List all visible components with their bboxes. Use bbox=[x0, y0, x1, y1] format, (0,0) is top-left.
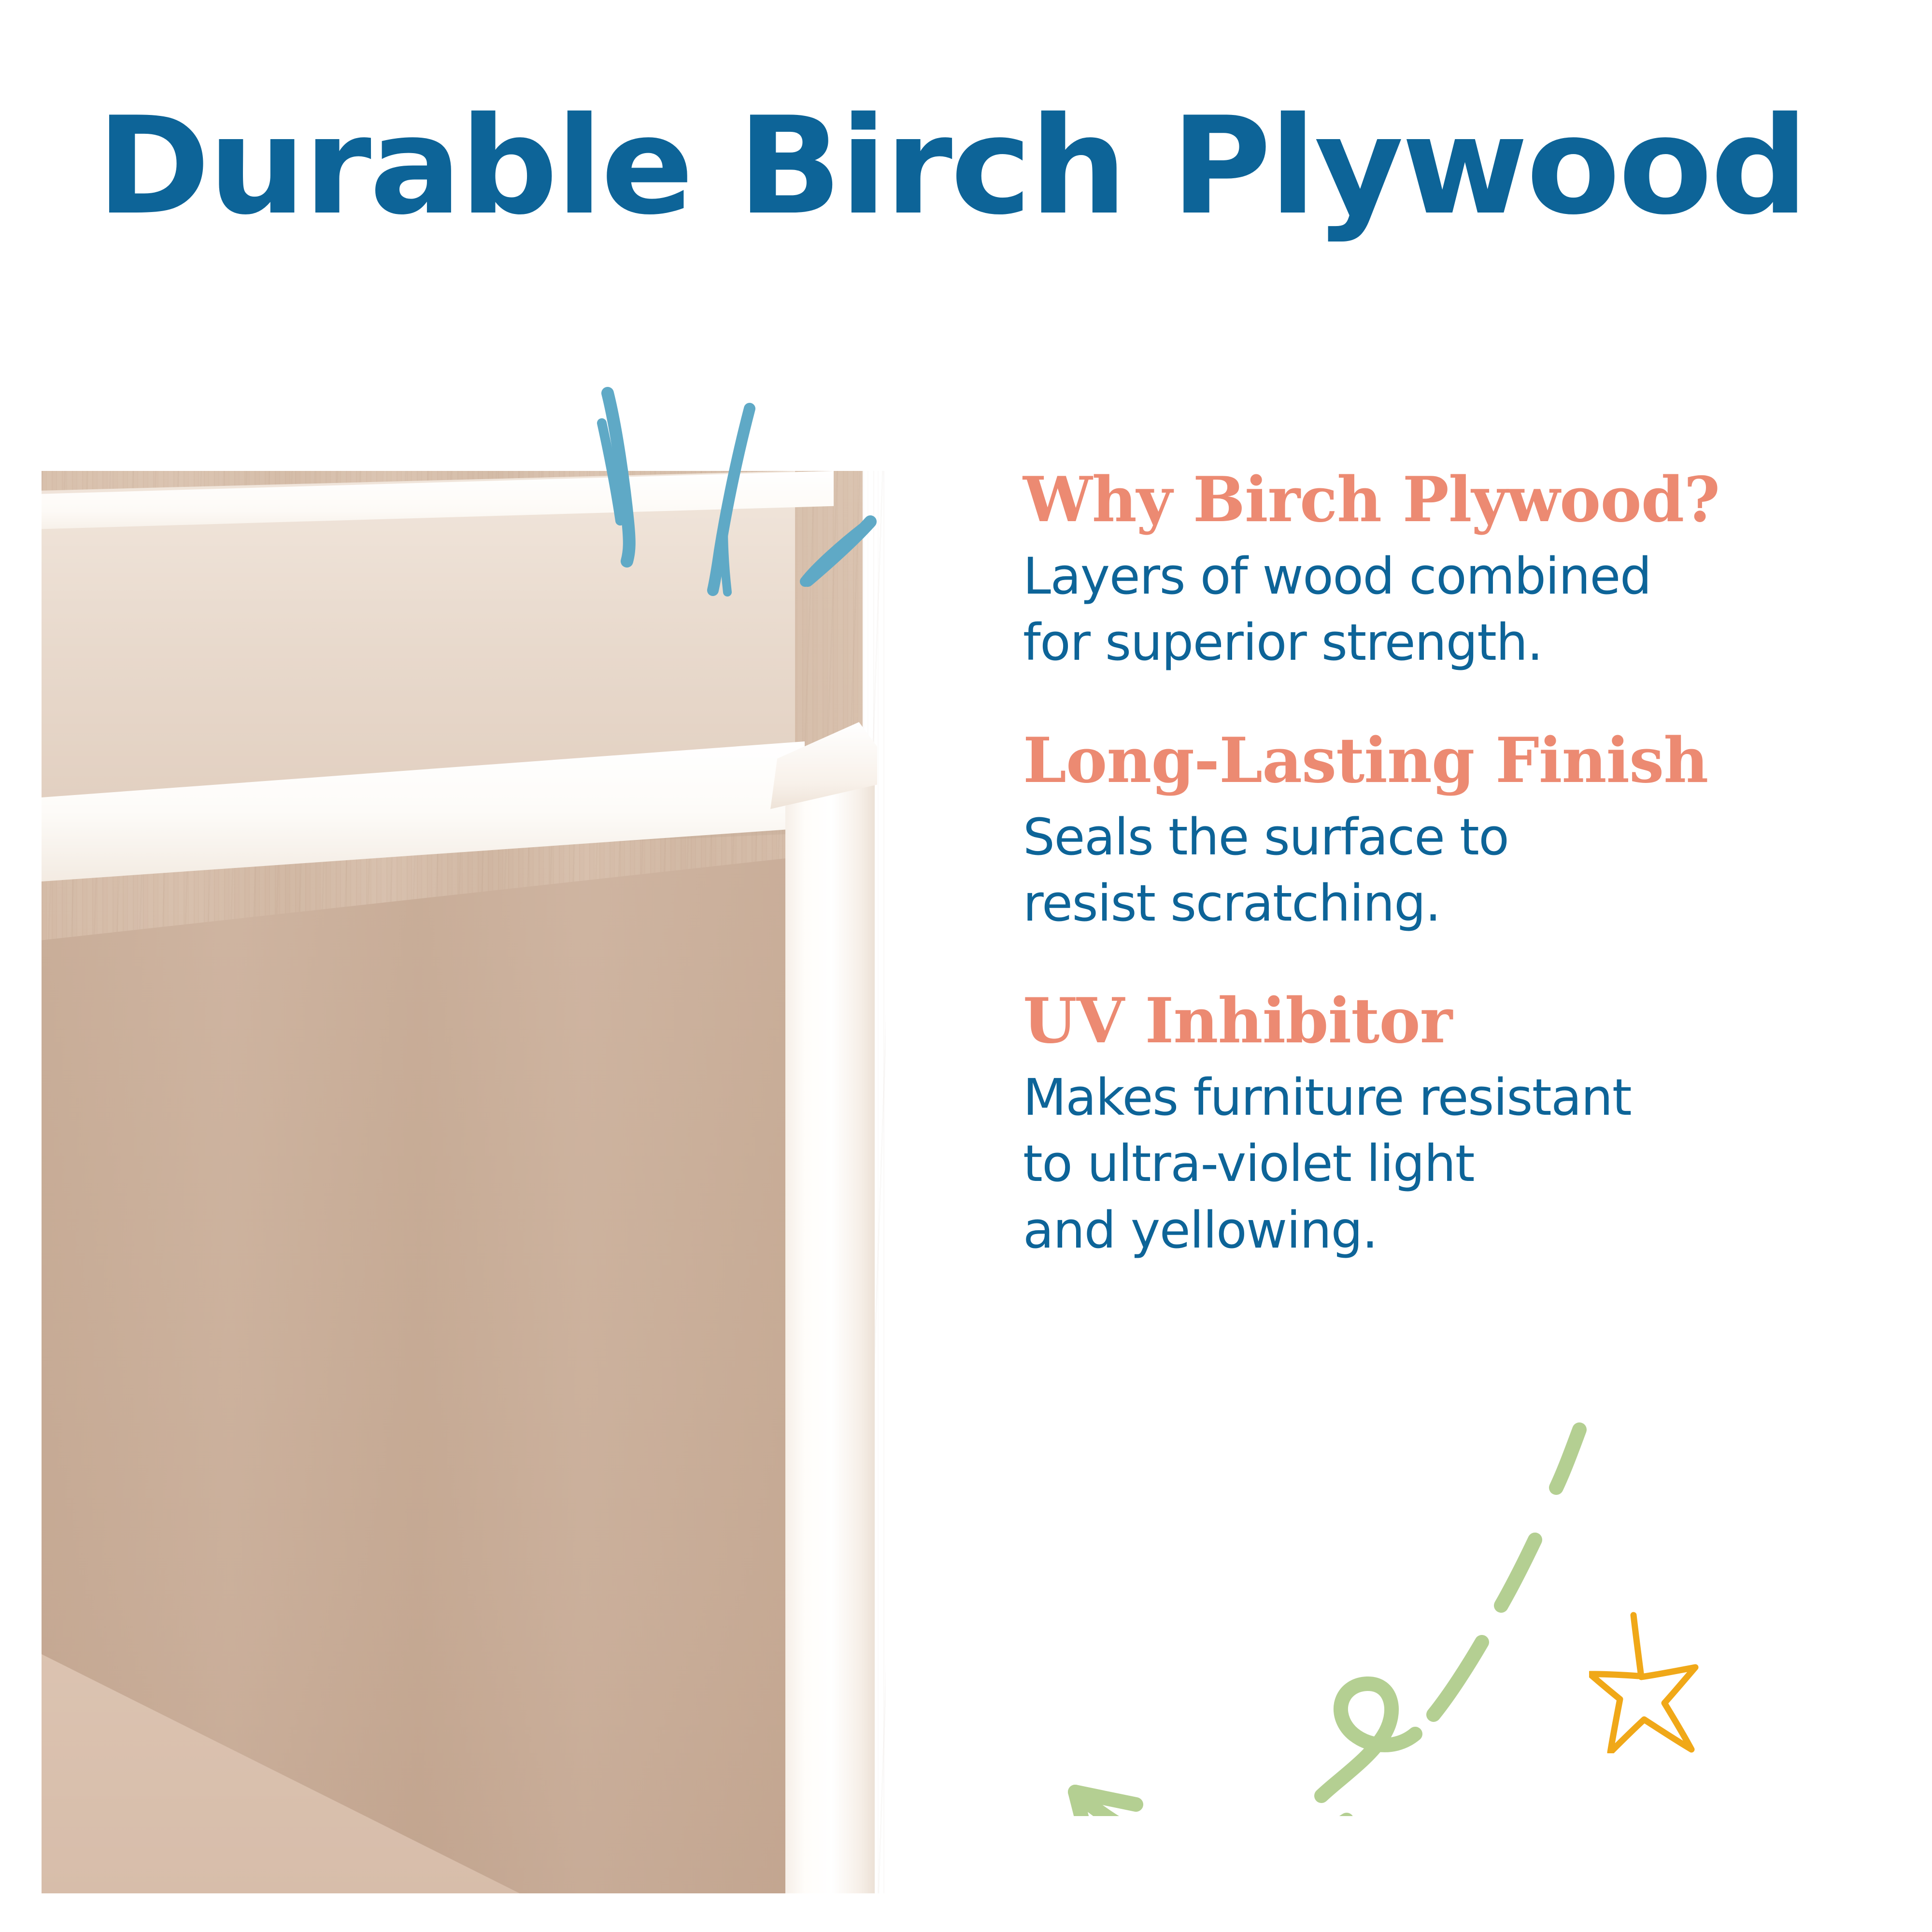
sparkle-icon bbox=[570, 382, 937, 609]
feature-body: Layers of wood combined for superior str… bbox=[1023, 543, 1873, 676]
feature-body-line: to ultra-violet light bbox=[1023, 1131, 1873, 1197]
feature-heading: Why Birch Plywood? bbox=[1023, 464, 1873, 537]
feature-heading: UV Inhibitor bbox=[1023, 985, 1873, 1058]
photo-canvas bbox=[42, 471, 886, 1893]
feature-item-3: UV Inhibitor Makes furniture resistant t… bbox=[1023, 985, 1873, 1264]
feature-body-line: Makes furniture resistant bbox=[1023, 1065, 1873, 1131]
feature-list: Why Birch Plywood? Layers of wood combin… bbox=[1023, 464, 1873, 1264]
feature-body-line: Layers of wood combined bbox=[1023, 543, 1873, 610]
page-title: Durable Birch Plywood bbox=[97, 99, 1919, 233]
feature-heading: Long-Lasting Finish bbox=[1023, 724, 1873, 797]
curved-arrow-icon bbox=[1034, 1415, 1662, 1816]
feature-body-line: Seals the surface to bbox=[1023, 804, 1873, 870]
product-photo bbox=[42, 471, 886, 1893]
feature-body: Seals the surface to resist scratching. bbox=[1023, 804, 1873, 937]
cabinet-side-panel bbox=[785, 761, 875, 1893]
feature-body-line: and yellowing. bbox=[1023, 1197, 1873, 1264]
feature-body-line: for superior strength. bbox=[1023, 610, 1873, 676]
poster-canvas: Durable Birch Plywood bbox=[0, 0, 1932, 1932]
star-icon bbox=[1589, 1608, 1724, 1753]
feature-item-1: Why Birch Plywood? Layers of wood combin… bbox=[1023, 464, 1873, 676]
feature-body: Makes furniture resistant to ultra-viole… bbox=[1023, 1065, 1873, 1264]
feature-body-line: resist scratching. bbox=[1023, 870, 1873, 937]
feature-item-2: Long-Lasting Finish Seals the surface to… bbox=[1023, 724, 1873, 937]
